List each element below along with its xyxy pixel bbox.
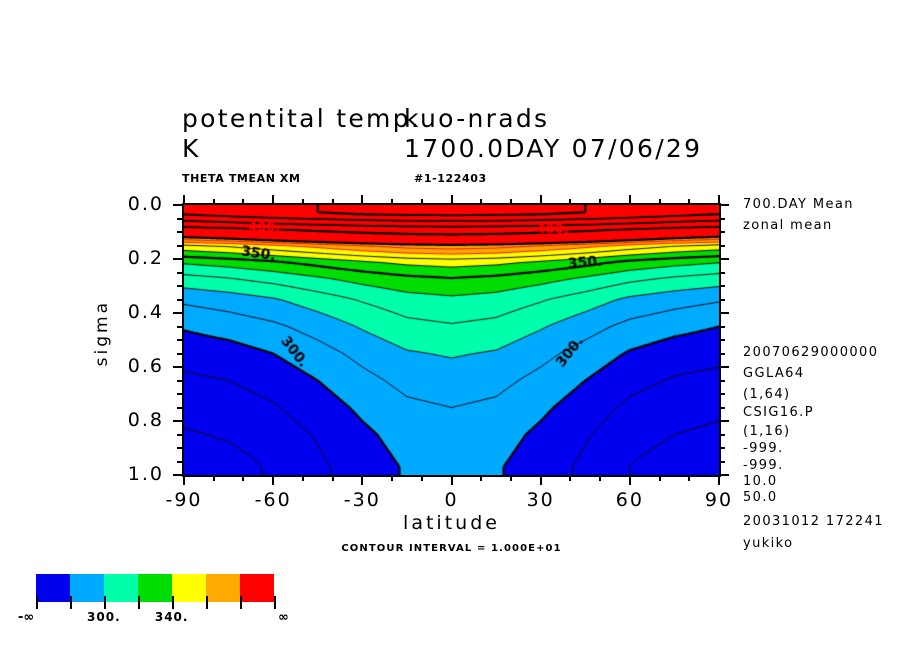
side-note: 20070629000000 bbox=[743, 345, 878, 360]
x-tick-minor bbox=[242, 476, 244, 481]
colorbar-label: 340. bbox=[132, 610, 212, 624]
title-time: 1700.0DAY 07/06/29 bbox=[404, 134, 702, 164]
title-variable: potentital temp. bbox=[182, 104, 404, 134]
x-tick-major bbox=[629, 476, 631, 485]
x-tick-minor-top bbox=[332, 199, 334, 204]
y-tick-major bbox=[173, 366, 182, 368]
x-tick-major bbox=[272, 476, 274, 485]
x-tick-minor-top bbox=[569, 199, 571, 204]
y-tick-major bbox=[173, 420, 182, 422]
x-tick-minor bbox=[659, 476, 661, 481]
y-tick-minor-right bbox=[720, 231, 725, 233]
x-tick-minor-top bbox=[659, 199, 661, 204]
x-tick-minor-top bbox=[213, 199, 215, 204]
y-axis-tick-label: 1.0 bbox=[62, 463, 164, 485]
x-tick-minor bbox=[391, 476, 393, 481]
subtitle-field: THETA TMEAN XM bbox=[182, 172, 414, 185]
x-tick-major-top bbox=[451, 195, 453, 204]
y-tick-minor-right bbox=[720, 245, 725, 247]
y-tick-minor bbox=[177, 299, 182, 301]
colorbar-tick bbox=[172, 596, 174, 609]
colorbar-max-symbol: ∞ bbox=[278, 610, 289, 625]
x-tick-minor bbox=[332, 476, 334, 481]
y-tick-minor bbox=[177, 447, 182, 449]
colorbar-tick bbox=[138, 596, 140, 609]
y-tick-minor bbox=[177, 285, 182, 287]
y-tick-major-right bbox=[720, 204, 729, 206]
x-tick-minor bbox=[213, 476, 215, 481]
y-tick-minor-right bbox=[720, 326, 725, 328]
y-tick-minor bbox=[177, 245, 182, 247]
y-tick-minor bbox=[177, 272, 182, 274]
y-tick-minor bbox=[177, 353, 182, 355]
y-tick-major bbox=[173, 204, 182, 206]
side-note: CSIG16.P bbox=[743, 405, 814, 420]
y-axis-tick-label: 0.0 bbox=[62, 193, 164, 215]
colorbar-min-symbol: -∞ bbox=[18, 610, 34, 625]
y-tick-minor-right bbox=[720, 339, 725, 341]
y-tick-minor bbox=[177, 434, 182, 436]
colorbar-tick bbox=[206, 596, 208, 609]
side-note: 10.0 bbox=[743, 474, 778, 489]
colorbar-cell bbox=[138, 574, 172, 602]
contour-plot-area bbox=[182, 203, 721, 477]
x-tick-minor-top bbox=[599, 199, 601, 204]
colorbar-legend: 300.340.-∞∞ bbox=[36, 574, 274, 602]
contour-canvas bbox=[184, 205, 719, 475]
y-tick-minor bbox=[177, 326, 182, 328]
title-units: K bbox=[182, 134, 404, 164]
y-tick-minor bbox=[177, 339, 182, 341]
y-tick-minor-right bbox=[720, 312, 725, 314]
side-note: zonal mean bbox=[743, 218, 833, 233]
x-tick-minor bbox=[688, 476, 690, 481]
subtitle-row: THETA TMEAN XM #1-122403 bbox=[182, 172, 742, 185]
title-line-2: K 1700.0DAY 07/06/29 bbox=[182, 134, 742, 164]
y-tick-minor bbox=[177, 231, 182, 233]
colorbar-tick bbox=[240, 596, 242, 609]
x-tick-major-top bbox=[272, 195, 274, 204]
y-axis-title: sigma bbox=[92, 300, 112, 366]
colorbar-cell bbox=[172, 574, 206, 602]
y-tick-minor bbox=[177, 393, 182, 395]
y-axis-tick-label: 0.6 bbox=[62, 355, 164, 377]
side-note: -999. bbox=[743, 441, 784, 456]
subtitle-id: #1-122403 bbox=[414, 172, 487, 185]
x-tick-minor bbox=[510, 476, 512, 481]
y-tick-minor-right bbox=[720, 407, 725, 409]
side-note: (1,64) bbox=[743, 387, 791, 402]
x-tick-major-top bbox=[183, 195, 185, 204]
chart-title-block: potentital temp. kuo-nrads K 1700.0DAY 0… bbox=[182, 104, 742, 164]
y-tick-minor-right bbox=[720, 299, 725, 301]
y-tick-major-right bbox=[720, 420, 729, 422]
side-note: 700.DAY Mean bbox=[743, 197, 854, 212]
y-tick-major bbox=[173, 474, 182, 476]
x-tick-minor bbox=[302, 476, 304, 481]
x-tick-minor-top bbox=[421, 199, 423, 204]
x-tick-major bbox=[183, 476, 185, 485]
x-tick-major bbox=[540, 476, 542, 485]
y-tick-minor-right bbox=[720, 380, 725, 382]
colorbar-tick bbox=[104, 596, 106, 609]
colorbar-cell bbox=[104, 574, 138, 602]
y-tick-minor bbox=[177, 461, 182, 463]
x-tick-major-top bbox=[540, 195, 542, 204]
y-axis-tick-label: 0.2 bbox=[62, 247, 164, 269]
x-tick-minor-top bbox=[688, 199, 690, 204]
colorbar-cell bbox=[36, 574, 70, 602]
x-tick-major bbox=[361, 476, 363, 485]
y-tick-minor bbox=[177, 380, 182, 382]
x-tick-minor-top bbox=[302, 199, 304, 204]
x-tick-minor bbox=[569, 476, 571, 481]
side-note: GGLA64 bbox=[743, 366, 805, 381]
side-note: 50.0 bbox=[743, 490, 778, 505]
colorbar-tick bbox=[70, 596, 72, 609]
colorbar-cell bbox=[70, 574, 104, 602]
x-tick-major-top bbox=[629, 195, 631, 204]
y-tick-major bbox=[173, 258, 182, 260]
side-note: yukiko bbox=[743, 536, 794, 551]
contour-interval-note: CONTOUR INTERVAL = 1.000E+01 bbox=[182, 543, 721, 554]
y-tick-minor-right bbox=[720, 218, 725, 220]
x-tick-major-top bbox=[718, 195, 720, 204]
y-tick-minor bbox=[177, 218, 182, 220]
y-tick-minor bbox=[177, 407, 182, 409]
colorbar-tick bbox=[36, 596, 38, 609]
y-tick-minor-right bbox=[720, 272, 725, 274]
x-tick-minor bbox=[599, 476, 601, 481]
y-axis-tick-label: 0.8 bbox=[62, 409, 164, 431]
y-tick-minor bbox=[177, 312, 182, 314]
y-tick-major-right bbox=[720, 366, 729, 368]
x-tick-minor bbox=[421, 476, 423, 481]
y-tick-major-right bbox=[720, 258, 729, 260]
side-note: (1,16) bbox=[743, 424, 791, 439]
side-note: -999. bbox=[743, 458, 784, 473]
y-tick-minor-right bbox=[720, 285, 725, 287]
x-axis-title: latitude bbox=[182, 512, 721, 534]
x-tick-minor-top bbox=[480, 199, 482, 204]
colorbar-cell bbox=[206, 574, 240, 602]
x-tick-major-top bbox=[361, 195, 363, 204]
y-tick-minor-right bbox=[720, 447, 725, 449]
y-tick-minor-right bbox=[720, 393, 725, 395]
y-tick-minor-right bbox=[720, 461, 725, 463]
x-tick-minor bbox=[480, 476, 482, 481]
x-tick-major bbox=[451, 476, 453, 485]
y-tick-major-right bbox=[720, 474, 729, 476]
x-tick-minor-top bbox=[510, 199, 512, 204]
y-tick-minor-right bbox=[720, 434, 725, 436]
y-tick-minor-right bbox=[720, 353, 725, 355]
colorbar-tick bbox=[274, 596, 276, 609]
y-axis-tick-label: 0.4 bbox=[62, 301, 164, 323]
title-line-1: potentital temp. kuo-nrads bbox=[182, 104, 742, 134]
x-tick-major bbox=[718, 476, 720, 485]
x-tick-minor-top bbox=[242, 199, 244, 204]
colorbar-cell bbox=[240, 574, 274, 602]
x-tick-minor-top bbox=[391, 199, 393, 204]
title-experiment: kuo-nrads bbox=[404, 104, 549, 134]
side-note: 20031012 172241 bbox=[743, 514, 884, 529]
